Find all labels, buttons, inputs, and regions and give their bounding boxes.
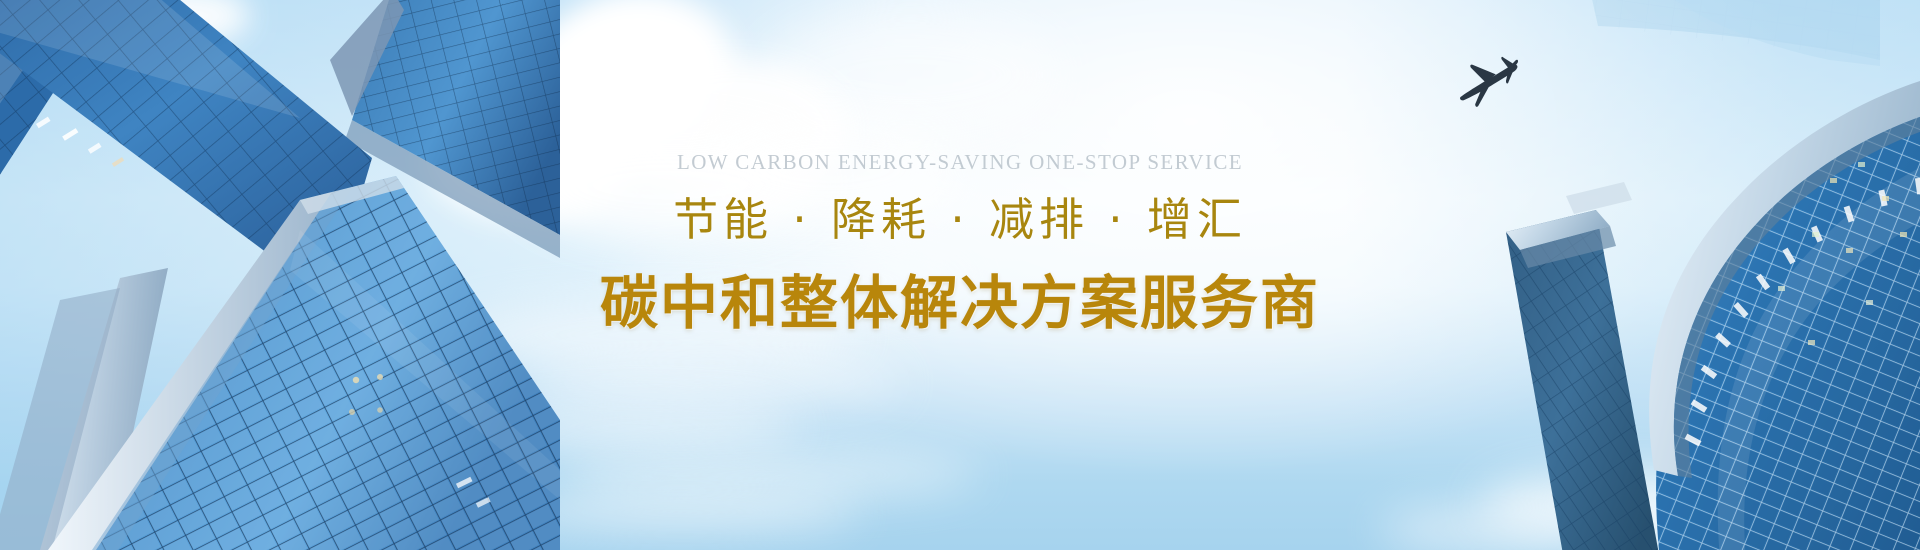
banner-subtitle: 节能 · 降耗 · 减排 · 增汇 xyxy=(0,195,1920,245)
building-ghost-top xyxy=(1590,0,1880,66)
banner-headline: 碳中和整体解决方案服务商 xyxy=(0,272,1920,336)
banner-eyebrow: LOW CARBON ENERGY-SAVING ONE-STOP SERVIC… xyxy=(0,152,1920,173)
airplane-icon xyxy=(1452,55,1530,111)
banner-text-block: LOW CARBON ENERGY-SAVING ONE-STOP SERVIC… xyxy=(0,152,1920,335)
hero-banner: LOW CARBON ENERGY-SAVING ONE-STOP SERVIC… xyxy=(0,0,1920,550)
cloud-wisp xyxy=(520,355,900,410)
